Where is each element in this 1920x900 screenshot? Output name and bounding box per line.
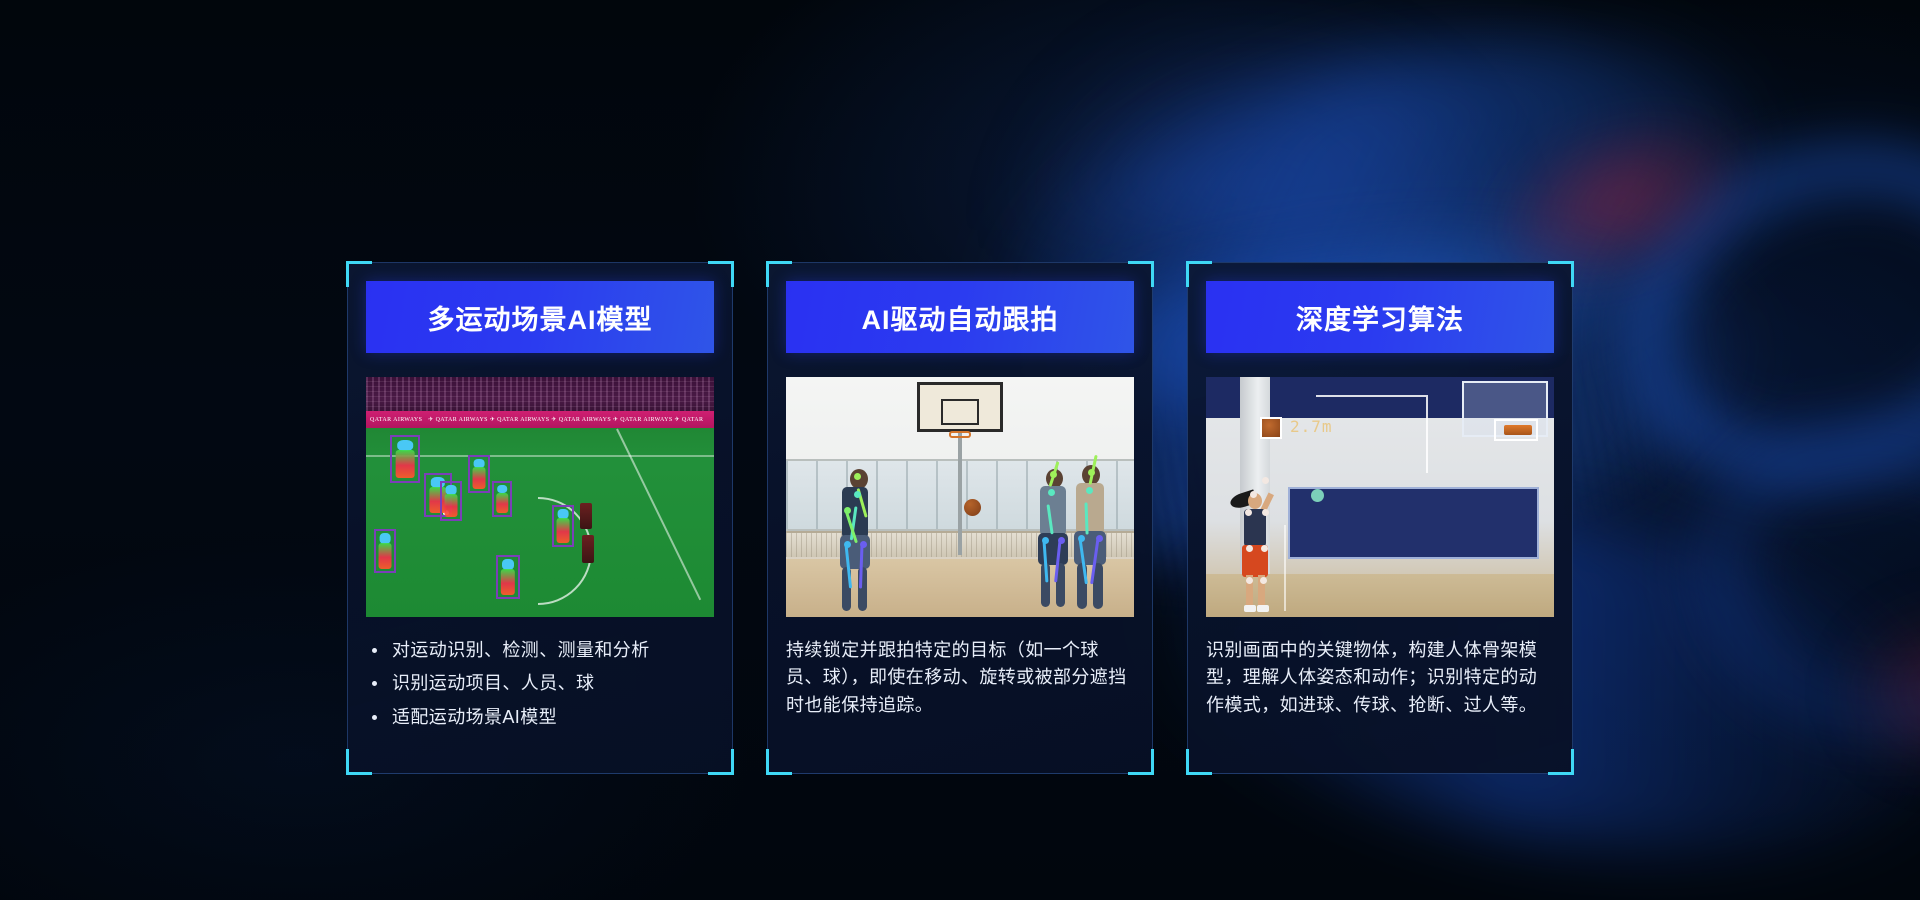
corner-bracket-bottom-right-icon (1128, 749, 1154, 775)
card-body-ai-auto-tracking: 持续锁定并跟拍特定的目标（如一个球员、球），即使在移动、旋转或被部分遮挡时也能保… (786, 637, 1134, 719)
card-title-deep-learning-algorithm: 深度学习算法 (1206, 281, 1554, 353)
corner-bracket-bottom-left-icon (766, 749, 792, 775)
player-figure (1234, 485, 1276, 611)
corner-bracket-bottom-left-icon (346, 749, 372, 775)
feature-card-row: 多运动场景AI模型 QATAR AIRWAYS ✈ QATAR AIRWAYS … (0, 0, 1920, 900)
card-title-ai-auto-tracking: AI驱动自动跟拍 (786, 281, 1134, 353)
court-shot-tracking-image: 2.7m (1206, 377, 1554, 617)
feature-description: 识别画面中的关键物体，构建人体骨架模型，理解人体姿态和动作；识别特定的动作模式，… (1206, 637, 1554, 719)
card-body-multi-sport-ai-model: 对运动识别、检测、测量和分析 识别运动项目、人员、球 适配运动场景AI模型 (366, 637, 714, 731)
corner-bracket-bottom-right-icon (708, 749, 734, 775)
stadium-ad-banner: QATAR AIRWAYS ✈ QATAR AIRWAYS ✈ QATAR AI… (366, 411, 714, 428)
feature-description: 持续锁定并跟拍特定的目标（如一个球员、球），即使在移动、旋转或被部分遮挡时也能保… (786, 637, 1134, 719)
gym-basketball-pose-image (786, 377, 1134, 617)
slide-stage: 多运动场景AI模型 QATAR AIRWAYS ✈ QATAR AIRWAYS … (0, 0, 1920, 900)
soccer-pitch-detection-image: QATAR AIRWAYS ✈ QATAR AIRWAYS ✈ QATAR AI… (366, 377, 714, 617)
feature-card-ai-auto-tracking[interactable]: AI驱动自动跟拍 (767, 262, 1153, 774)
card-title-multi-sport-ai-model: 多运动场景AI模型 (366, 281, 714, 353)
card-body-deep-learning-algorithm: 识别画面中的关键物体，构建人体骨架模型，理解人体姿态和动作；识别特定的动作模式，… (1206, 637, 1554, 719)
stadium-ad-text: QATAR AIRWAYS (366, 417, 422, 423)
tracked-point-marker (1311, 489, 1324, 502)
list-item: 识别运动项目、人员、球 (366, 670, 714, 697)
feature-bullet-list: 对运动识别、检测、测量和分析 识别运动项目、人员、球 适配运动场景AI模型 (366, 637, 714, 731)
feature-card-multi-sport-ai-model[interactable]: 多运动场景AI模型 QATAR AIRWAYS ✈ QATAR AIRWAYS … (347, 262, 733, 774)
corner-bracket-bottom-right-icon (1548, 749, 1574, 775)
feature-card-deep-learning-algorithm[interactable]: 深度学习算法 2.7m (1187, 262, 1573, 774)
corner-bracket-bottom-left-icon (1186, 749, 1212, 775)
distance-label: 2.7m (1290, 417, 1333, 436)
list-item: 对运动识别、检测、测量和分析 (366, 637, 714, 664)
list-item: 适配运动场景AI模型 (366, 704, 714, 731)
ball-detection-box (1260, 417, 1282, 439)
